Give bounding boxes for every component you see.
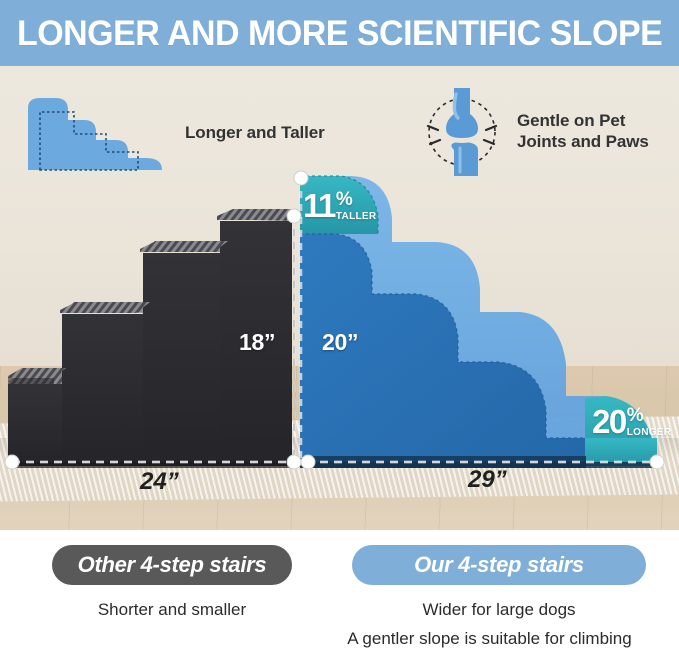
measurement-our-height: 20” xyxy=(322,329,358,356)
feature-gentle-on-joints: Gentle on Pet Joints and Paws xyxy=(420,86,649,178)
infographic-page: LONGER AND MORE SCIENTIFIC SLOPE xyxy=(0,0,679,657)
product-comparison-scene: Longer and Taller Gentle on Pet Joints a… xyxy=(0,66,679,530)
caption-our-stairs-line1: Wider for large dogs xyxy=(352,600,646,620)
measurement-our-width: 29” xyxy=(468,466,507,494)
banner-title: LONGER AND MORE SCIENTIFIC SLOPE xyxy=(17,16,662,51)
header-banner: LONGER AND MORE SCIENTIFIC SLOPE xyxy=(0,0,679,66)
caption-other-stairs: Shorter and smaller xyxy=(52,600,292,620)
feature-label: Longer and Taller xyxy=(185,123,325,144)
badge-word: LONGER xyxy=(627,428,672,438)
measurement-other-height: 18” xyxy=(239,329,275,356)
badge-longer: 20 % LONGER xyxy=(592,406,671,438)
measurement-other-width: 24” xyxy=(140,468,179,496)
feature-label: Gentle on Pet Joints and Paws xyxy=(517,111,649,152)
feature-longer-and-taller: Longer and Taller xyxy=(22,90,325,176)
badge-number: 11 xyxy=(303,190,335,221)
caption-our-stairs-line2: A gentler slope is suitable for climbing xyxy=(300,629,679,649)
pill-our-stairs: Our 4-step stairs xyxy=(352,545,646,585)
pet-joint-bone-icon xyxy=(420,86,504,178)
pill-other-stairs: Other 4-step stairs xyxy=(52,545,292,585)
badge-number: 20 xyxy=(592,406,626,437)
badge-percent-symbol: % xyxy=(336,190,377,209)
badge-word: TALLER xyxy=(336,212,377,222)
comparison-summary: Other 4-step stairs Our 4-step stairs Sh… xyxy=(0,530,679,657)
blue-stairs-outline-icon xyxy=(22,90,172,176)
badge-percent-symbol: % xyxy=(627,406,672,425)
badge-taller: 11 % TALLER xyxy=(303,190,376,222)
